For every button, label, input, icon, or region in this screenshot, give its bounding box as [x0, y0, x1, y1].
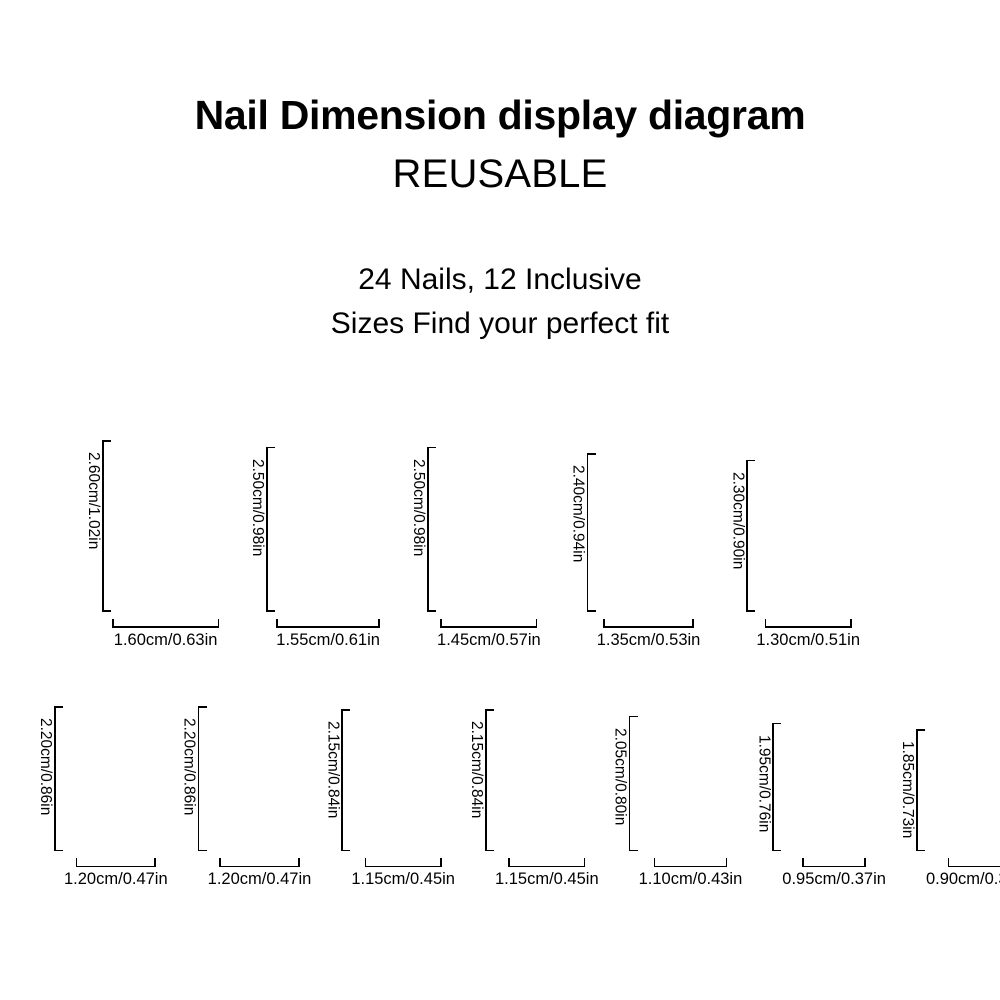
- height-ruler-cap-top: [587, 453, 596, 455]
- height-ruler-cap-bottom: [341, 850, 350, 852]
- height-ruler-cap-bottom: [916, 850, 925, 852]
- width-ruler-line: [219, 858, 299, 867]
- width-ruler-line: [440, 619, 537, 628]
- width-dimension: 1.30cm/0.51in: [756, 619, 860, 650]
- width-ruler-line: [76, 858, 156, 867]
- height-label: 2.15cm/0.84in: [325, 709, 340, 863]
- page-title: Nail Dimension display diagram: [0, 92, 1000, 138]
- height-ruler-line: [341, 709, 350, 851]
- width-label: 1.15cm/0.45in: [495, 870, 599, 889]
- nail-shape-group: 2.60cm/1.02in: [86, 440, 220, 612]
- height-ruler-cap-bottom: [427, 610, 436, 612]
- width-label: 1.20cm/0.47in: [208, 870, 312, 889]
- height-dimension: 2.20cm/0.86in: [38, 706, 63, 851]
- nail-silhouette: [277, 447, 381, 612]
- width-ruler-cap-left: [219, 858, 221, 867]
- width-ruler-cap-left: [365, 858, 367, 867]
- height-ruler-cap-bottom: [54, 850, 63, 852]
- width-label: 1.60cm/0.63in: [114, 631, 218, 650]
- nail-silhouette: [783, 723, 847, 852]
- nail-silhouette: [65, 706, 145, 851]
- width-dimension: 0.95cm/0.37in: [782, 858, 886, 889]
- width-ruler-cap-right: [864, 858, 866, 867]
- width-ruler-cap-left: [112, 619, 114, 628]
- height-ruler-cap-top: [485, 709, 494, 711]
- width-label: 1.55cm/0.61in: [276, 631, 380, 650]
- height-dimension: 1.95cm/0.76in: [756, 723, 781, 852]
- nail-size-cell: 2.50cm/0.98in1.45cm/0.57in: [411, 447, 541, 650]
- width-ruler-line: [112, 619, 219, 628]
- nail-shape-group: 2.50cm/0.98in: [250, 447, 381, 612]
- width-dimension: 0.90cm/0.35in: [926, 858, 1000, 889]
- width-dimension: 1.15cm/0.45in: [495, 858, 599, 889]
- height-label: 2.20cm/0.86in: [182, 706, 197, 863]
- nail-size-cell: 2.50cm/0.98in1.55cm/0.61in: [250, 447, 381, 650]
- nail-size-cell: 2.15cm/0.84in1.15cm/0.45in: [469, 709, 599, 889]
- height-label: 1.85cm/0.73in: [900, 729, 915, 863]
- nail-size-cell: 2.15cm/0.84in1.15cm/0.45in: [325, 709, 455, 889]
- width-ruler-cap-left: [76, 858, 78, 867]
- header-block: Nail Dimension display diagram REUSABLE: [0, 92, 1000, 200]
- width-label: 1.10cm/0.43in: [639, 870, 743, 889]
- height-dimension: 2.15cm/0.84in: [325, 709, 350, 851]
- info-line-2: Sizes Find your perfect fit: [0, 302, 1000, 346]
- height-ruler-cap-top: [54, 706, 63, 708]
- width-label: 0.95cm/0.37in: [782, 870, 886, 889]
- nail-size-cell: 2.05cm/0.80in1.10cm/0.43in: [613, 716, 743, 889]
- width-ruler-cap-right: [378, 619, 380, 628]
- width-ruler-cap-left: [948, 858, 950, 867]
- page-subtitle: REUSABLE: [0, 148, 1000, 200]
- nail-shape-group: 2.20cm/0.86in: [182, 706, 289, 851]
- height-label: 2.40cm/0.94in: [571, 453, 586, 623]
- height-ruler-cap-top: [427, 447, 436, 449]
- height-ruler-line: [427, 447, 436, 612]
- height-ruler-line: [587, 453, 596, 611]
- width-ruler-cap-right: [218, 619, 220, 628]
- height-ruler-cap-bottom: [485, 850, 494, 852]
- width-dimension: 1.45cm/0.57in: [437, 619, 541, 650]
- height-label: 2.50cm/0.98in: [250, 447, 265, 624]
- width-ruler-cap-left: [276, 619, 278, 628]
- width-dimension: 1.55cm/0.61in: [276, 619, 380, 650]
- nail-silhouette: [496, 709, 573, 851]
- height-dimension: 1.85cm/0.73in: [900, 729, 925, 851]
- width-ruler-cap-right: [692, 619, 694, 628]
- width-ruler-cap-right: [726, 858, 728, 867]
- nail-shape-group: 2.50cm/0.98in: [411, 447, 535, 612]
- width-ruler-line: [765, 619, 852, 628]
- info-line-1: 24 Nails, 12 Inclusive: [0, 258, 1000, 302]
- width-dimension: 1.10cm/0.43in: [639, 858, 743, 889]
- width-ruler-cap-right: [440, 858, 442, 867]
- height-ruler-line: [102, 440, 111, 612]
- height-dimension: 2.60cm/1.02in: [86, 440, 111, 612]
- info-block: 24 Nails, 12 Inclusive Sizes Find your p…: [0, 258, 1000, 346]
- nail-size-cell: 1.95cm/0.76in0.95cm/0.37in: [756, 723, 886, 890]
- nail-size-cell: 2.30cm/0.90in1.30cm/0.51in: [730, 460, 860, 650]
- nail-size-cell: 1.85cm/0.73in0.90cm/0.35in: [900, 729, 1000, 889]
- height-ruler-cap-top: [772, 723, 781, 725]
- height-dimension: 2.30cm/0.90in: [730, 460, 755, 612]
- height-label: 2.20cm/0.86in: [38, 706, 53, 863]
- height-ruler-cap-top: [102, 440, 111, 442]
- width-ruler-cap-left: [603, 619, 605, 628]
- nail-shape-group: 2.05cm/0.80in: [613, 716, 714, 851]
- width-label: 1.15cm/0.45in: [351, 870, 455, 889]
- height-ruler-line: [266, 447, 275, 612]
- nail-silhouette: [352, 709, 429, 851]
- nail-shape-group: 2.15cm/0.84in: [469, 709, 573, 851]
- height-label: 1.95cm/0.76in: [756, 723, 771, 864]
- width-label: 1.30cm/0.51in: [756, 631, 860, 650]
- height-dimension: 2.05cm/0.80in: [613, 716, 638, 851]
- height-ruler-cap-bottom: [629, 850, 638, 852]
- nail-size-row-2: 2.20cm/0.86in1.20cm/0.47in2.20cm/0.86in1…: [38, 706, 1000, 889]
- width-ruler-line: [802, 858, 866, 867]
- width-dimension: 1.20cm/0.47in: [64, 858, 168, 889]
- nail-silhouette: [927, 729, 987, 851]
- nail-size-cell: 2.20cm/0.86in1.20cm/0.47in: [38, 706, 168, 889]
- height-ruler-line: [198, 706, 207, 851]
- height-label: 2.05cm/0.80in: [613, 716, 628, 863]
- width-ruler-line: [948, 858, 1000, 867]
- height-ruler-cap-bottom: [587, 610, 596, 612]
- height-ruler-cap-bottom: [266, 610, 275, 612]
- width-ruler-cap-right: [298, 858, 300, 867]
- height-ruler-cap-top: [916, 729, 925, 731]
- height-ruler-line: [629, 716, 638, 851]
- width-label: 1.45cm/0.57in: [437, 631, 541, 650]
- nail-shape-group: 2.15cm/0.84in: [325, 709, 429, 851]
- height-ruler-cap-bottom: [746, 610, 755, 612]
- width-ruler-cap-left: [440, 619, 442, 628]
- nail-silhouette: [598, 453, 688, 611]
- height-ruler-line: [746, 460, 755, 612]
- nail-shape-group: 2.30cm/0.90in: [730, 460, 844, 612]
- nail-shape-group: 2.40cm/0.94in: [571, 453, 688, 611]
- nail-shape-group: 1.85cm/0.73in: [900, 729, 987, 851]
- width-ruler-line: [508, 858, 585, 867]
- height-label: 2.15cm/0.84in: [469, 709, 484, 863]
- width-ruler-cap-right: [154, 858, 156, 867]
- width-dimension: 1.35cm/0.53in: [597, 619, 701, 650]
- width-ruler-cap-left: [508, 858, 510, 867]
- nail-silhouette: [438, 447, 535, 612]
- width-ruler-line: [654, 858, 728, 867]
- height-ruler-line: [485, 709, 494, 851]
- width-dimension: 1.20cm/0.47in: [208, 858, 312, 889]
- nail-size-cell: 2.40cm/0.94in1.35cm/0.53in: [571, 453, 701, 649]
- height-label: 2.60cm/1.02in: [86, 440, 101, 624]
- height-ruler-cap-top: [746, 460, 755, 462]
- width-label: 1.20cm/0.47in: [64, 870, 168, 889]
- nail-silhouette: [640, 716, 714, 851]
- height-dimension: 2.40cm/0.94in: [571, 453, 596, 611]
- height-ruler-cap-top: [198, 706, 207, 708]
- width-ruler-cap-right: [536, 619, 538, 628]
- height-ruler-cap-top: [341, 709, 350, 711]
- height-ruler-line: [772, 723, 781, 852]
- nail-silhouette: [113, 440, 220, 612]
- width-ruler-cap-left: [654, 858, 656, 867]
- height-ruler-line: [916, 729, 925, 851]
- width-ruler-cap-left: [765, 619, 767, 628]
- height-ruler-cap-top: [266, 447, 275, 449]
- nail-silhouette: [209, 706, 289, 851]
- nail-shape-group: 1.95cm/0.76in: [756, 723, 847, 852]
- width-dimension: 1.15cm/0.45in: [351, 858, 455, 889]
- width-ruler-cap-right: [850, 619, 852, 628]
- height-label: 2.50cm/0.98in: [411, 447, 426, 624]
- height-ruler-cap-bottom: [102, 610, 111, 612]
- height-dimension: 2.50cm/0.98in: [411, 447, 436, 612]
- nail-size-row-1: 2.60cm/1.02in1.60cm/0.63in2.50cm/0.98in1…: [86, 440, 860, 650]
- height-ruler-cap-bottom: [198, 850, 207, 852]
- width-ruler-line: [276, 619, 380, 628]
- width-ruler-line: [603, 619, 693, 628]
- height-label: 2.30cm/0.90in: [730, 460, 745, 624]
- nail-shape-group: 2.20cm/0.86in: [38, 706, 145, 851]
- width-ruler-cap-right: [584, 858, 586, 867]
- width-ruler-cap-left: [802, 858, 804, 867]
- height-ruler-line: [54, 706, 63, 851]
- width-label: 0.90cm/0.35in: [926, 870, 1000, 889]
- nail-size-cell: 2.60cm/1.02in1.60cm/0.63in: [86, 440, 220, 650]
- height-dimension: 2.20cm/0.86in: [182, 706, 207, 851]
- height-dimension: 2.50cm/0.98in: [250, 447, 275, 612]
- height-ruler-cap-top: [629, 716, 638, 718]
- width-ruler-line: [365, 858, 442, 867]
- nail-size-cell: 2.20cm/0.86in1.20cm/0.47in: [182, 706, 312, 889]
- height-ruler-cap-bottom: [772, 850, 781, 852]
- nail-silhouette: [757, 460, 844, 612]
- width-dimension: 1.60cm/0.63in: [112, 619, 219, 650]
- width-label: 1.35cm/0.53in: [597, 631, 701, 650]
- height-dimension: 2.15cm/0.84in: [469, 709, 494, 851]
